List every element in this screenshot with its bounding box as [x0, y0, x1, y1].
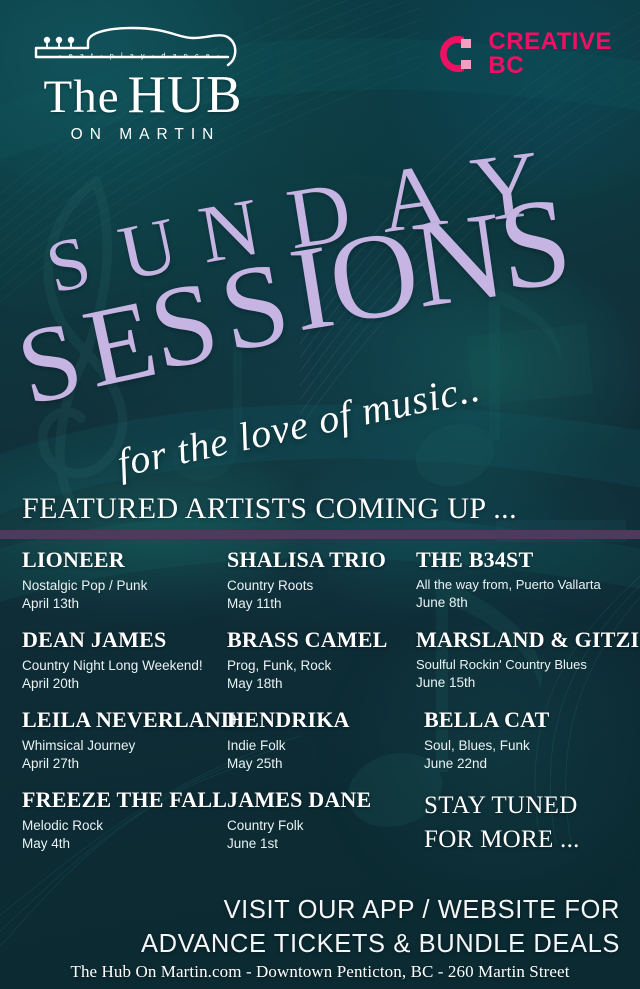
artist-date: May 25th: [227, 755, 404, 773]
artist-card[interactable]: MARSLAND & GITZI Soulful Rockin' Country…: [410, 628, 640, 708]
artist-card[interactable]: LEILA NEVERLAND Whimsical Journey April …: [0, 708, 225, 788]
artist-date: June 22nd: [424, 755, 634, 773]
featured-artists-heading: FEATURED ARTISTS COMING UP ...: [22, 492, 517, 526]
creative-bc-logo: CREATIVE BC: [434, 30, 612, 79]
artist-card[interactable]: LIONEER Nostalgic Pop / Punk April 13th: [0, 548, 225, 628]
artist-card[interactable]: JAMES DANE Country Folk June 1st: [225, 788, 410, 868]
artist-name: BRASS CAMEL: [227, 628, 404, 652]
cta-line-2: ADVANCE TICKETS & BUNDLE DEALS: [0, 927, 620, 961]
hub-subtitle: ON MARTIN: [28, 126, 258, 144]
artist-genre: Melodic Rock: [22, 816, 219, 835]
call-to-action: VISIT OUR APP / WEBSITE FOR ADVANCE TICK…: [0, 893, 620, 961]
artist-date: April 13th: [22, 595, 219, 613]
artist-card[interactable]: DEAN JAMES Country Night Long Weekend! A…: [0, 628, 225, 708]
event-poster: - e a t - p l a y - d a n c e - TheHUB O…: [0, 0, 640, 989]
artist-card[interactable]: BELLA CAT Soul, Blues, Funk June 22nd: [410, 708, 640, 788]
artist-genre: Indie Folk: [227, 736, 404, 755]
title-letter: S: [493, 178, 578, 312]
artist-name: DEAN JAMES: [22, 628, 219, 652]
creative-bc-c-icon: [434, 30, 476, 78]
artist-date: May 11th: [227, 595, 404, 613]
title-block: S U N D A Y S E S S I O N S for the love…: [0, 140, 640, 440]
venue-address: The Hub On Martin.com - Downtown Pentict…: [0, 962, 640, 982]
artist-name: LIONEER: [22, 548, 219, 572]
artist-genre: Whimsical Journey: [22, 736, 219, 755]
artist-genre: All the way from, Puerto Vallarta: [416, 576, 634, 594]
artist-date: May 4th: [22, 835, 219, 853]
artist-genre: Prog, Funk, Rock: [227, 656, 404, 675]
artist-name: BELLA CAT: [424, 708, 634, 732]
artist-genre: Country Roots: [227, 576, 404, 595]
artist-card[interactable]: HENDRIKA Indie Folk May 25th: [225, 708, 410, 788]
artist-date: June 15th: [416, 674, 634, 692]
artist-name: HENDRIKA: [227, 708, 404, 732]
artist-date: April 27th: [22, 755, 219, 773]
artist-name: LEILA NEVERLAND: [22, 708, 219, 732]
hub-tagline: - e a t - p l a y - d a n c e -: [38, 51, 243, 60]
stay-tuned-block: STAY TUNED FOR MORE ...: [410, 788, 640, 868]
artist-card[interactable]: FREEZE THE FALL Melodic Rock May 4th: [0, 788, 225, 868]
artist-name: FREEZE THE FALL: [22, 788, 219, 812]
hub-logo: - e a t - p l a y - d a n c e - TheHUB O…: [28, 26, 258, 144]
stay-tuned-line2: FOR MORE ...: [424, 822, 634, 856]
hub-the: The: [44, 71, 120, 123]
hub-name: HUB: [120, 66, 243, 124]
creative-bc-line2: BC: [488, 54, 612, 78]
artist-date: April 20th: [22, 675, 219, 693]
hub-wordmark: TheHUB: [28, 70, 258, 121]
artist-genre: Nostalgic Pop / Punk: [22, 576, 219, 595]
title-letter: S: [212, 243, 297, 371]
title-letter: S: [9, 305, 92, 424]
artist-date: June 1st: [227, 835, 404, 853]
stay-tuned-line1: STAY TUNED: [424, 788, 634, 822]
artist-name: SHALISA TRIO: [227, 548, 404, 572]
section-divider: [0, 530, 640, 539]
creative-bc-wordmark: CREATIVE BC: [488, 30, 612, 79]
artist-genre: Country Folk: [227, 816, 404, 835]
artist-genre: Soulful Rockin' Country Blues: [416, 656, 634, 674]
cta-line-1: VISIT OUR APP / WEBSITE FOR: [0, 893, 620, 927]
artist-card[interactable]: BRASS CAMEL Prog, Funk, Rock May 18th: [225, 628, 410, 708]
artist-card[interactable]: SHALISA TRIO Country Roots May 11th: [225, 548, 410, 628]
guitar-outline-icon: - e a t - p l a y - d a n c e -: [28, 26, 258, 68]
artist-date: June 8th: [416, 594, 634, 612]
artist-name: JAMES DANE: [227, 788, 404, 812]
artist-card[interactable]: THE B34ST All the way from, Puerto Valla…: [410, 548, 640, 628]
artist-genre: Country Night Long Weekend!: [22, 656, 219, 675]
artist-genre: Soul, Blues, Funk: [424, 736, 634, 755]
artist-date: May 18th: [227, 675, 404, 693]
artist-grid: LIONEER Nostalgic Pop / Punk April 13th …: [0, 548, 640, 868]
artist-name: MARSLAND & GITZI: [416, 628, 634, 652]
artist-name: THE B34ST: [416, 548, 634, 572]
creative-bc-line1: CREATIVE: [488, 30, 612, 54]
